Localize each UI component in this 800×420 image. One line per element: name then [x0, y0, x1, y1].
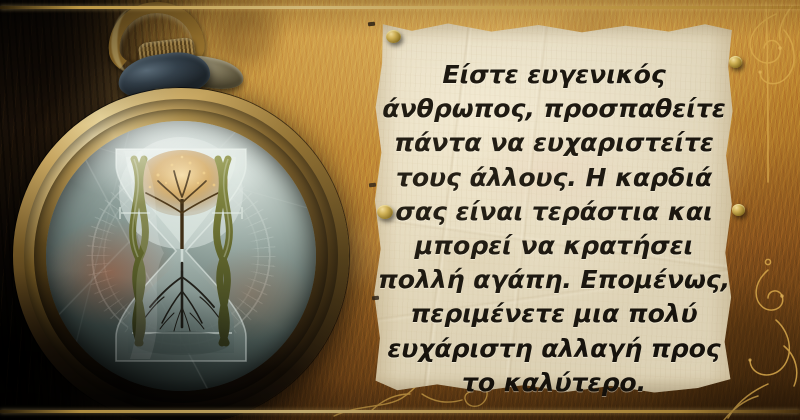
brass-tack-top-right — [729, 56, 742, 68]
quote-line-1: Είστε ευγενικός — [442, 58, 665, 92]
quote-line-8: περιμένετε μια πολύ — [410, 297, 697, 331]
quote-line-3: πάντα να ευχαριστείτε — [394, 126, 714, 160]
pin-mark-middle — [369, 183, 376, 188]
quote-line-9: ευχάριστη αλλαγή προς — [387, 332, 720, 366]
quote-text: Είστε ευγενικός άνθρωπος, προσπαθείτε πά… — [386, 58, 722, 364]
pin-mark-lower — [372, 296, 379, 301]
pocket-watch — [10, 0, 360, 420]
quote-line-5: σας είναι τεράστια και — [395, 195, 712, 229]
gold-rule-bottom — [0, 410, 800, 413]
brass-tack-middle-right — [732, 204, 745, 216]
quote-card: Είστε ευγενικός άνθρωπος, προσπαθείτε πά… — [0, 0, 800, 420]
pin-mark-top — [368, 22, 375, 27]
quote-line-6: μπορεί να κρατήσει — [415, 229, 694, 263]
brass-tack-middle-left — [377, 205, 393, 219]
quote-line-10: το καλύτερο. — [462, 366, 646, 400]
dial-glass-gloss — [46, 121, 316, 391]
gold-rule-top — [0, 6, 800, 9]
brass-tack-top-left — [386, 30, 401, 43]
quote-line-7: πολλή αγάπη. Επομένως, — [378, 263, 730, 297]
quote-line-2: άνθρωπος, προσπαθείτε — [382, 92, 725, 126]
quote-line-4: τους άλλους. Η καρδιά — [396, 161, 712, 195]
